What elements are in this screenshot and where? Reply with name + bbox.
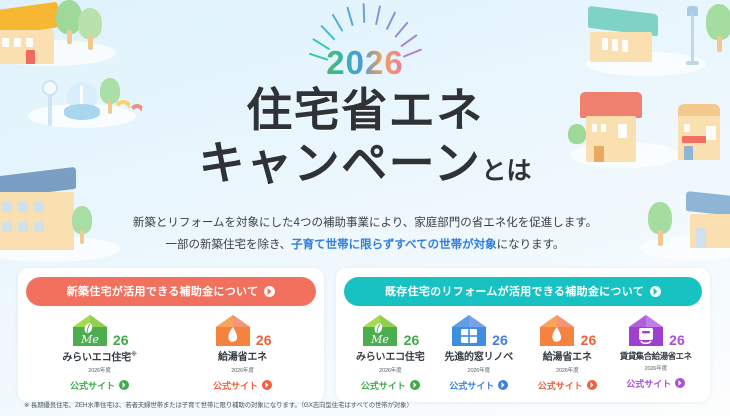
chevron-right-icon bbox=[262, 380, 272, 390]
chevron-right-icon bbox=[119, 380, 129, 390]
tank-house-icon: 26 bbox=[626, 314, 686, 347]
program-card-name: みらいエコ住宅 bbox=[346, 352, 435, 364]
sun-ray bbox=[375, 5, 381, 25]
tank-house-glyph bbox=[628, 314, 664, 347]
chevron-right-icon bbox=[587, 380, 597, 390]
program-card-year: 2026年度 bbox=[346, 366, 435, 374]
program-badge-year: 26 bbox=[256, 333, 272, 347]
panel-new-build-cards: Me 26 みらいエコ住宅※ 2026年度 公式サイト bbox=[26, 306, 316, 394]
lamp-head bbox=[687, 6, 698, 16]
program-badge-year: 26 bbox=[581, 333, 597, 347]
program-badge-year: 26 bbox=[404, 333, 420, 347]
official-site-link[interactable]: 公式サイト bbox=[538, 379, 597, 392]
chevron-right-icon bbox=[650, 286, 661, 297]
sun-ray bbox=[386, 11, 397, 30]
sun-ray bbox=[332, 13, 344, 32]
sun-ray bbox=[363, 3, 366, 23]
program-card-kyuto-shoene-reform[interactable]: 26 給湯省エネ 2026年度 公式サイト bbox=[523, 314, 612, 394]
house-window bbox=[34, 202, 44, 212]
program-card-mado-renove[interactable]: 26 先進的窓リノベ 2026年度 公式サイト bbox=[435, 314, 524, 394]
campaign-year: 2026 bbox=[0, 44, 730, 82]
window-house-icon: 26 bbox=[449, 314, 509, 347]
sun-ray bbox=[320, 24, 336, 40]
official-site-link[interactable]: 公式サイト bbox=[626, 377, 685, 390]
official-site-link[interactable]: 公式サイト bbox=[213, 379, 272, 392]
panel-new-build-heading-label: 新築住宅が活用できる補助金について bbox=[67, 283, 259, 299]
program-badge-year: 26 bbox=[669, 333, 685, 347]
sun-ray bbox=[394, 21, 409, 38]
lead-description: 新築とリフォームを対象にした4つの補助事業により、家庭部門の省エネ化を促進します… bbox=[0, 212, 730, 257]
panel-reform-heading-label: 既存住宅のリフォームが活用できる補助金について bbox=[385, 283, 644, 299]
campaign-year-text: 2026 bbox=[326, 44, 403, 82]
tree-crown bbox=[56, 0, 82, 34]
program-card-year: 2026年度 bbox=[435, 366, 524, 374]
chevron-right-icon bbox=[498, 380, 508, 390]
water-drop-house-icon: 26 bbox=[213, 314, 273, 347]
page-title-line2-main: キャンペーン bbox=[199, 137, 482, 189]
program-card-name: 給湯省エネ bbox=[197, 352, 289, 364]
house-window bbox=[18, 202, 28, 212]
panel-new-build-heading[interactable]: 新築住宅が活用できる補助金について bbox=[26, 277, 316, 306]
official-site-label: 公式サイト bbox=[449, 379, 494, 392]
program-card-year: 2026年度 bbox=[523, 366, 612, 374]
official-site-label: 公式サイト bbox=[361, 379, 406, 392]
sun-ray bbox=[346, 6, 354, 26]
program-card-name: みらいエコ住宅※ bbox=[54, 352, 146, 364]
official-site-label: 公式サイト bbox=[70, 379, 115, 392]
program-card-name-text: みらいエコ住宅 bbox=[62, 352, 131, 363]
page-title-line2: キャンペーンとは bbox=[0, 139, 730, 188]
program-card-mirai-eco-new[interactable]: Me 26 みらいエコ住宅※ 2026年度 公式サイト bbox=[54, 314, 146, 394]
campaign-hero-page: 2026 住宅省エネ キャンペーンとは 新築とリフォームを対象にした4つの補助事… bbox=[0, 0, 730, 416]
program-card-year: 2026年度 bbox=[54, 366, 146, 374]
page-title: 住宅省エネ キャンペーンとは bbox=[0, 86, 730, 188]
chevron-right-icon bbox=[410, 380, 420, 390]
svg-text:Me: Me bbox=[370, 333, 389, 346]
official-site-label: 公式サイト bbox=[626, 377, 671, 390]
leaf-house-icon: Me 26 bbox=[70, 314, 130, 347]
window-house-glyph bbox=[451, 314, 487, 347]
program-card-name: 給湯省エネ bbox=[523, 352, 612, 364]
leaf-house-glyph: Me bbox=[72, 314, 108, 347]
tree-crown bbox=[78, 8, 102, 39]
chevron-right-icon bbox=[264, 286, 275, 297]
panel-new-build: 新築住宅が活用できる補助金について Me bbox=[18, 268, 324, 402]
program-badge-year: 26 bbox=[492, 333, 508, 347]
water-drop-house-glyph bbox=[215, 314, 251, 347]
lead-line-2: 一部の新築住宅を除き、子育て世帯に限らずすべての世帯が対象になります。 bbox=[0, 234, 730, 256]
footnote-text: ※ 長期優良住宅、ZEH水準住宅は、若者夫婦世帯または子育て世帯に限り補助の対象… bbox=[24, 400, 413, 409]
lead-line-1: 新築とリフォームを対象にした4つの補助事業により、家庭部門の省エネ化を促進します… bbox=[0, 212, 730, 234]
svg-text:Me: Me bbox=[80, 333, 99, 346]
program-card-year: 2026年度 bbox=[612, 364, 701, 372]
program-card-year: 2026年度 bbox=[197, 366, 289, 374]
program-card-chintai-kyuto[interactable]: 26 賃貸集合給湯省エネ 2026年度 公式サイト bbox=[612, 314, 701, 394]
panel-reform-cards: Me 26 みらいエコ住宅 2026年度 公式サイト bbox=[344, 306, 702, 394]
leaf-house-glyph: Me bbox=[362, 314, 398, 347]
official-site-link[interactable]: 公式サイト bbox=[449, 379, 508, 392]
official-site-link[interactable]: 公式サイト bbox=[70, 379, 129, 392]
water-drop-house-icon: 26 bbox=[537, 314, 597, 347]
panel-reform-heading[interactable]: 既存住宅のリフォームが活用できる補助金について bbox=[344, 277, 702, 306]
program-badge-year: 26 bbox=[113, 333, 129, 347]
panel-reform: 既存住宅のリフォームが活用できる補助金について Me bbox=[336, 268, 710, 402]
tree-trunk bbox=[67, 30, 72, 44]
roof-shape bbox=[588, 6, 658, 37]
page-title-suffix: とは bbox=[481, 157, 531, 185]
house-window bbox=[2, 202, 12, 212]
lead-line2-pre: 一部の新築住宅を除き、 bbox=[165, 239, 291, 251]
official-site-label: 公式サイト bbox=[538, 379, 583, 392]
chevron-right-icon bbox=[675, 378, 685, 388]
footnote-marker: ※ bbox=[131, 352, 137, 358]
official-site-label: 公式サイト bbox=[213, 379, 258, 392]
roof-shape bbox=[0, 2, 58, 37]
tree-crown bbox=[706, 4, 730, 40]
page-title-line1: 住宅省エネ bbox=[0, 86, 730, 135]
leaf-house-icon: Me 26 bbox=[360, 314, 420, 347]
program-card-name: 先進的窓リノベ bbox=[435, 352, 524, 364]
lead-line2-post: になります。 bbox=[497, 239, 565, 251]
program-card-mirai-eco-reform[interactable]: Me 26 みらいエコ住宅 2026年度 公式サイト bbox=[346, 314, 435, 394]
water-drop-house-glyph bbox=[539, 314, 575, 347]
program-card-name: 賃貸集合給湯省エネ bbox=[612, 352, 701, 362]
tree bbox=[56, 0, 82, 44]
lead-highlight: 子育て世帯に限らずすべての世帯が対象 bbox=[291, 239, 497, 251]
subsidy-panels: 新築住宅が活用できる補助金について Me bbox=[18, 268, 712, 402]
program-card-kyuto-shoene-new[interactable]: 26 給湯省エネ 2026年度 公式サイト bbox=[197, 314, 289, 394]
official-site-link[interactable]: 公式サイト bbox=[361, 379, 420, 392]
